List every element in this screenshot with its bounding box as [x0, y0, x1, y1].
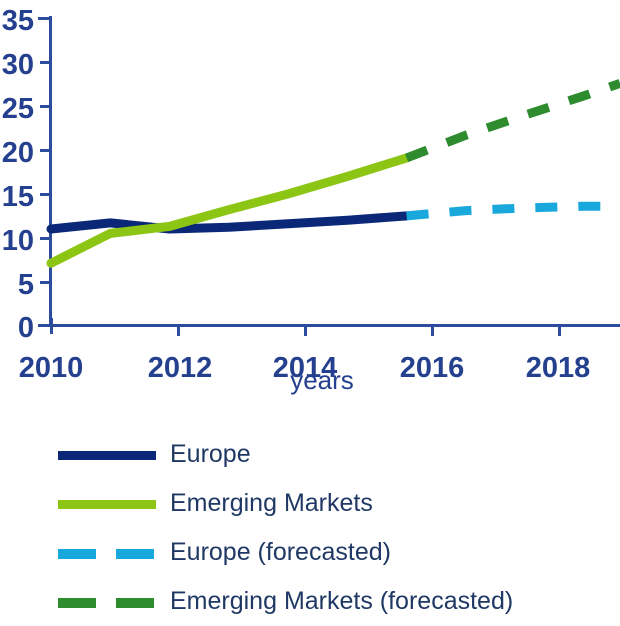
chart-container: 35 30 25 20 15 10 5 0 2010 2012 2014 201…	[0, 0, 620, 620]
y-tick-label-5: 5	[18, 269, 34, 301]
legend-swatch-europe	[58, 445, 156, 465]
x-tick-label-2018: 2018	[526, 352, 591, 384]
chart-legend: Europe Emerging Markets Europe (forecast…	[58, 430, 618, 626]
legend-item-europe-forecasted[interactable]: Europe (forecasted)	[58, 528, 618, 577]
legend-item-europe[interactable]: Europe	[58, 430, 618, 479]
x-tick-label-2012: 2012	[148, 352, 213, 384]
series-line-europe	[51, 216, 407, 229]
series-line-emerging-markets-forecasted	[407, 83, 620, 158]
legend-label-emerging-markets: Emerging Markets	[170, 489, 373, 518]
y-tick-label-10: 10	[2, 225, 34, 257]
legend-label-europe-forecasted: Europe (forecasted)	[170, 538, 391, 567]
x-tick-label-2010: 2010	[19, 352, 84, 384]
series-line-emerging-markets	[51, 158, 407, 263]
y-tick-label-35: 35	[2, 5, 34, 37]
legend-swatch-europe-forecasted	[58, 543, 156, 563]
legend-item-emerging-markets[interactable]: Emerging Markets	[58, 479, 618, 528]
legend-label-europe: Europe	[170, 440, 251, 469]
y-tick-label-25: 25	[2, 93, 34, 125]
y-tick-label-20: 20	[2, 137, 34, 169]
legend-item-emerging-markets-forecasted[interactable]: Emerging Markets (forecasted)	[58, 577, 618, 626]
series-line-europe-forecasted	[407, 206, 620, 216]
legend-swatch-emerging-markets-forecasted	[58, 592, 156, 612]
y-tick-label-0: 0	[18, 312, 34, 344]
legend-label-emerging-markets-forecasted: Emerging Markets (forecasted)	[170, 587, 513, 616]
line-chart-plot: 35 30 25 20 15 10 5 0 2010 2012 2014 201…	[0, 0, 620, 420]
x-tick-label-2016: 2016	[400, 352, 465, 384]
y-tick-label-15: 15	[2, 181, 34, 213]
legend-swatch-emerging-markets	[58, 494, 156, 514]
y-tick-label-30: 30	[2, 49, 34, 81]
x-axis-title: years	[290, 365, 354, 395]
